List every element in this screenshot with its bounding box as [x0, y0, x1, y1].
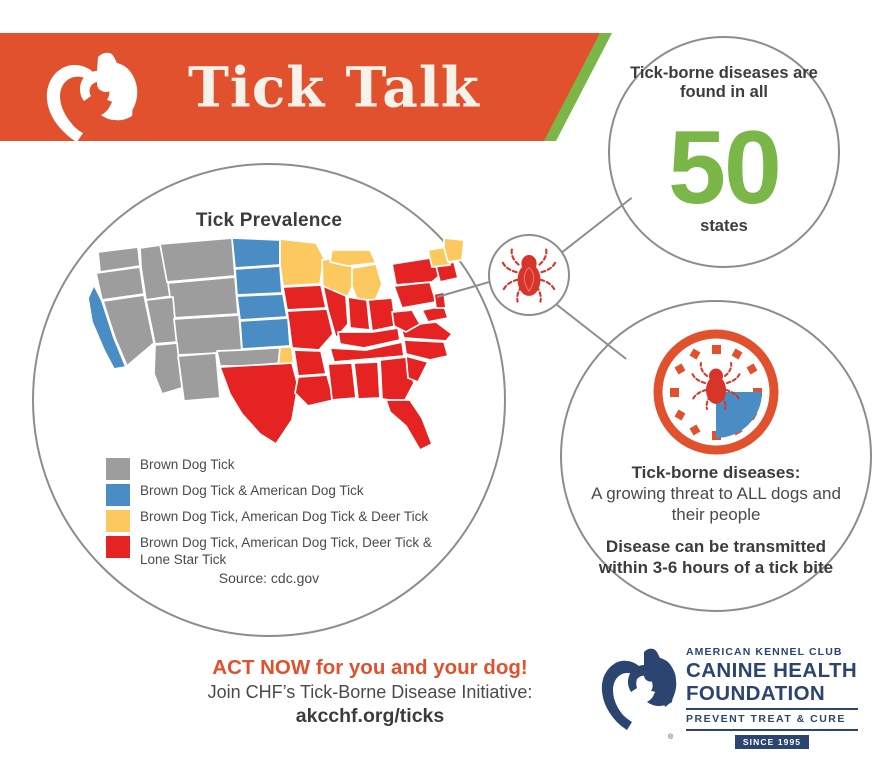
state-SD: [235, 266, 282, 295]
legend-label: Brown Dog Tick: [140, 457, 235, 474]
state-FL: [386, 400, 432, 450]
us-map-svg: [80, 238, 470, 460]
state-MI-up: [330, 250, 376, 266]
tick-icon: [490, 236, 568, 314]
state-AR: [294, 350, 326, 376]
legend-item: Brown Dog Tick & American Dog Tick: [106, 483, 446, 506]
cta-headline: ACT NOW for you and your dog!: [150, 655, 590, 680]
state-IN: [348, 297, 370, 330]
state-MO: [287, 309, 333, 350]
state-ME: [444, 238, 464, 262]
state-OR: [96, 267, 144, 300]
akc-chf-wordmark: AMERICAN KENNEL CLUB CANINE HEALTH FOUND…: [686, 646, 858, 750]
legend-item: Brown Dog Tick: [106, 457, 446, 480]
legend-item: Brown Dog Tick, American Dog Tick, Deer …: [106, 535, 446, 568]
legend-item: Brown Dog Tick, American Dog Tick & Deer…: [106, 509, 446, 532]
state-CO: [174, 315, 242, 355]
state-KS: [240, 318, 290, 349]
clock-tick-icon: [652, 328, 780, 456]
akc-chf-footer-logo: ® AMERICAN KENNEL CLUB CANINE HEALTH FOU…: [596, 634, 858, 746]
warning-line-1: Tick-borne diseases:: [584, 462, 848, 483]
cta-subline: Join CHF’s Tick-Borne Disease Initiative…: [150, 680, 590, 704]
state-AZ: [154, 343, 182, 394]
warning-line-2: A growing threat to ALL dogs and their p…: [584, 483, 848, 525]
akc-dog-heart-logo-icon: [38, 41, 146, 147]
tick-node: [488, 234, 570, 316]
logo-line-3: FOUNDATION: [686, 682, 858, 705]
state-MN: [280, 239, 324, 286]
legend-label: Brown Dog Tick, American Dog Tick, Deer …: [140, 535, 446, 568]
state-TX: [220, 363, 298, 444]
fifty-number: 50: [610, 116, 838, 220]
disease-warning-text: Tick-borne diseases: A growing threat to…: [562, 462, 870, 578]
fifty-heading: Tick-borne diseases are found in all: [610, 64, 838, 102]
akc-dog-heart-logo-icon: ®: [596, 638, 682, 738]
state-ND: [232, 238, 280, 268]
legend-swatch-yellow: [106, 510, 130, 532]
state-PA: [394, 282, 436, 308]
logo-divider: [686, 708, 858, 710]
map-legend: Brown Dog Tick Brown Dog Tick & American…: [106, 457, 446, 571]
map-source: Source: cdc.gov: [34, 570, 504, 586]
header-banner: Tick Talk: [0, 33, 612, 141]
state-MT: [160, 238, 235, 282]
warning-line-3: Disease can be transmitted within 3-6 ho…: [584, 536, 848, 578]
fifty-states-panel: Tick-borne diseases are found in all 50 …: [608, 36, 840, 268]
call-to-action: ACT NOW for you and your dog! Join CHF’s…: [150, 655, 590, 729]
tick-prevalence-panel: Tick Prevalence: [32, 163, 506, 637]
legend-swatch-gray: [106, 458, 130, 480]
state-NE: [237, 294, 287, 320]
logo-line-2: CANINE HEALTH: [686, 659, 858, 682]
legend-label: Brown Dog Tick & American Dog Tick: [140, 483, 364, 500]
state-WY: [168, 277, 238, 318]
logo-since-badge: SINCE 1995: [735, 735, 809, 749]
disease-warning-panel: Tick-borne diseases: A growing threat to…: [560, 300, 872, 612]
legend-swatch-blue: [106, 484, 130, 506]
state-NM: [178, 353, 220, 401]
logo-tagline: PREVENT TREAT & CURE: [686, 713, 858, 726]
state-MS: [328, 363, 356, 400]
registered-mark: ®: [668, 734, 673, 741]
legend-swatch-red: [106, 536, 130, 558]
legend-label: Brown Dog Tick, American Dog Tick & Deer…: [140, 509, 428, 526]
state-SC: [406, 356, 428, 382]
state-AL: [354, 362, 380, 399]
cta-url[interactable]: akcchf.org/ticks: [150, 704, 590, 729]
fifty-subheading: states: [610, 217, 838, 236]
map-title: Tick Prevalence: [34, 210, 504, 232]
page-title: Tick Talk: [188, 55, 480, 120]
us-map: [80, 238, 470, 460]
logo-line-1: AMERICAN KENNEL CLUB: [686, 646, 858, 659]
state-IA: [283, 285, 326, 310]
infographic-canvas: Tick Talk Tick Prevalence: [0, 0, 877, 758]
state-LA: [295, 375, 334, 406]
